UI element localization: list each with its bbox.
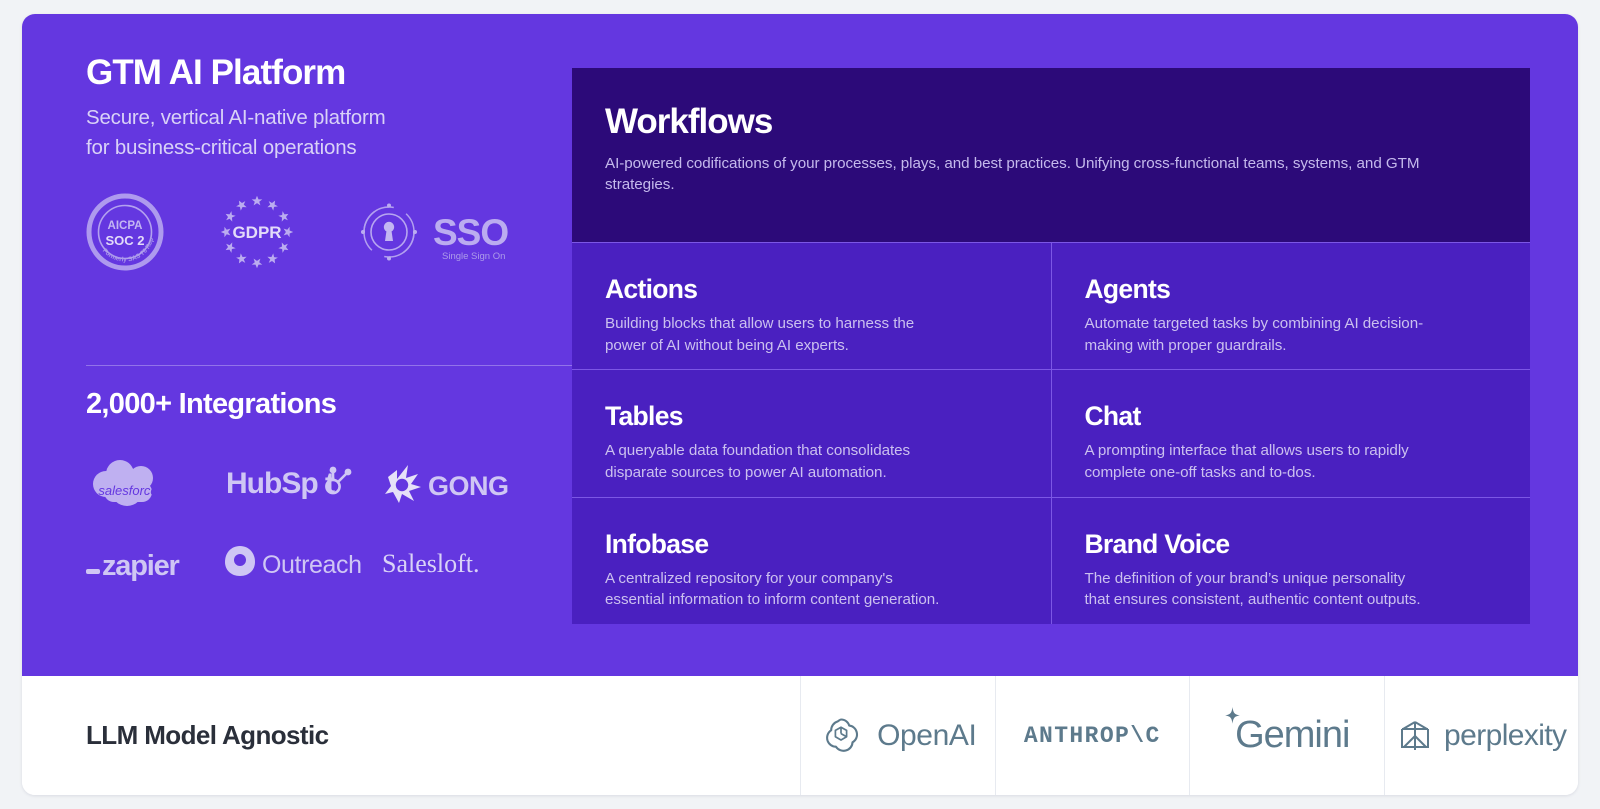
feature-desc-brand-voice: The definition of your brand’s unique pe… <box>1085 568 1497 611</box>
soc2-badge-line1: AICPA <box>108 220 143 232</box>
feature-desc-tables: A queryable data foundation that consoli… <box>605 440 1017 483</box>
llm-model-openai[interactable]: OpenAI <box>800 676 995 795</box>
feature-title-tables: Tables <box>605 402 1017 431</box>
integrations-title: 2,000+ Integrations <box>86 388 336 421</box>
gemini-label: Gemini <box>1235 714 1349 757</box>
anthropic-label: ANTHROP\C <box>1024 723 1161 749</box>
salesloft-logo: Salesloft. <box>382 542 512 582</box>
llm-model-gemini[interactable]: Gemini <box>1189 676 1384 795</box>
outreach-logo: Outreach <box>224 542 382 582</box>
gong-logo: GONG <box>384 461 516 505</box>
openai-icon <box>819 714 863 758</box>
feature-card-workflows[interactable]: Workflows AI-powered codifications of yo… <box>572 68 1530 242</box>
feature-card-chat[interactable]: Chat A prompting interface that allows u… <box>1052 370 1531 496</box>
feature-card-agents[interactable]: Agents Automate targeted tasks by combin… <box>1052 243 1531 369</box>
salesforce-logo-label: salesforce <box>98 483 157 498</box>
llm-model-anthropic[interactable]: ANTHROP\C <box>995 676 1190 795</box>
gtm-platform-card: GTM AI Platform Secure, vertical AI-nati… <box>22 14 1578 795</box>
left-column: GTM AI Platform Secure, vertical AI-nati… <box>22 14 572 676</box>
sso-badge: SSO Single Sign On <box>350 193 508 271</box>
gdpr-badge-label: GDPR <box>232 223 281 242</box>
llm-section-label: LLM Model Agnostic <box>86 720 328 751</box>
llm-model-perplexity[interactable]: perplexity <box>1384 676 1579 795</box>
openai-label: OpenAI <box>877 719 976 753</box>
gong-logo-label: GONG <box>428 471 509 501</box>
perplexity-label: perplexity <box>1444 719 1566 753</box>
zapier-logo-label: zapier <box>102 550 180 582</box>
llm-model-bar: LLM Model Agnostic OpenAI ANTHROP\C Gemi… <box>22 676 1578 795</box>
salesforce-logo: salesforce <box>86 452 226 514</box>
platform-subtitle-line-1: Secure, vertical AI-native platform <box>86 103 572 133</box>
feature-title-agents: Agents <box>1085 275 1497 304</box>
salesloft-logo-label: Salesloft. <box>382 549 480 578</box>
feature-desc-infobase: A centralized repository for your compan… <box>605 568 1017 611</box>
platform-subtitle-line-2: for business-critical operations <box>86 133 572 163</box>
gdpr-badge: GDPR <box>208 193 306 271</box>
hero-section: GTM AI Platform Secure, vertical AI-nati… <box>22 14 1578 676</box>
platform-subtitle: Secure, vertical AI-native platform for … <box>86 103 572 163</box>
integration-logos-row-2: zapier Outreach Saleslof <box>86 542 516 582</box>
screenshot-root: GTM AI Platform Secure, vertical AI-nati… <box>0 0 1600 809</box>
feature-desc-agents: Automate targeted tasks by combining AI … <box>1085 313 1497 356</box>
feature-title-workflows: Workflows <box>605 103 1496 142</box>
sso-badge-caption: Single Sign On <box>442 251 505 262</box>
perplexity-icon <box>1396 716 1434 756</box>
feature-desc-chat: A prompting interface that allows users … <box>1085 440 1497 483</box>
feature-card-actions[interactable]: Actions Building blocks that allow users… <box>572 243 1051 369</box>
feature-grid-wrapper: Workflows AI-powered codifications of yo… <box>572 14 1578 676</box>
hubspot-logo-label: HubSp t <box>226 467 335 500</box>
left-column-divider <box>86 365 572 366</box>
feature-desc-actions: Building blocks that allow users to harn… <box>605 313 1017 356</box>
soc2-badge-line2: SOC 2 <box>105 233 144 248</box>
zapier-logo: zapier <box>86 542 224 582</box>
feature-grid: Workflows AI-powered codifications of yo… <box>572 68 1530 624</box>
llm-label-cell: LLM Model Agnostic <box>22 676 800 795</box>
feature-title-infobase: Infobase <box>605 530 1017 559</box>
feature-title-brand-voice: Brand Voice <box>1085 530 1497 559</box>
hubspot-logo: HubSp t <box>226 461 384 505</box>
outreach-logo-label: Outreach <box>262 551 362 579</box>
feature-card-brand-voice[interactable]: Brand Voice The definition of your brand… <box>1052 498 1531 624</box>
feature-card-tables[interactable]: Tables A queryable data foundation that … <box>572 370 1051 496</box>
feature-title-chat: Chat <box>1085 402 1497 431</box>
soc2-badge: AICPA SOC 2 Formerly SAS 70 Reports <box>86 193 164 271</box>
feature-card-infobase[interactable]: Infobase A centralized repository for yo… <box>572 498 1051 624</box>
feature-title-actions: Actions <box>605 275 1017 304</box>
sso-badge-label: SSO <box>433 212 508 253</box>
feature-desc-workflows: AI-powered codifications of your process… <box>605 153 1435 196</box>
compliance-badges: AICPA SOC 2 Formerly SAS 70 Reports <box>86 193 572 271</box>
page-title: GTM AI Platform <box>86 54 572 93</box>
integration-logos-row-1: salesforce HubSp t <box>86 452 516 514</box>
